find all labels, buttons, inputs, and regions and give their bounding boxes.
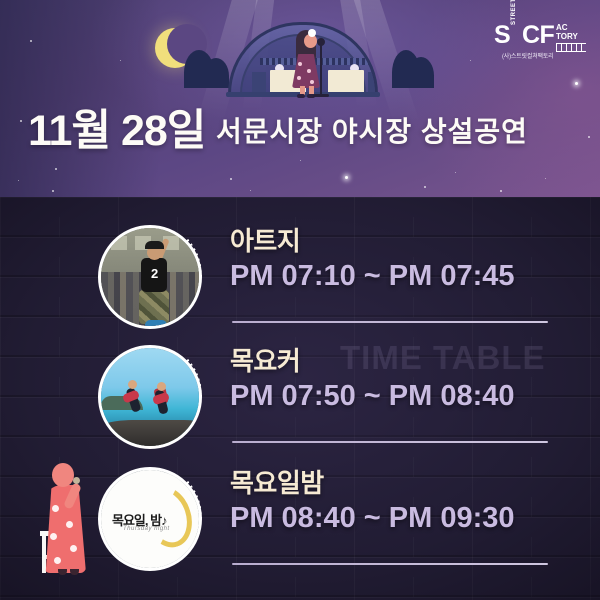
seated-singer-shoe [58,569,67,575]
dress-flower-dot [66,521,73,528]
table-row: 2 아트지 PM 07:10 ~ PM 07:45 [0,217,600,337]
singer-illustration-icon [288,28,324,96]
artist-name: 목요커 [230,347,550,376]
dress-flower-dot [297,76,301,80]
microphone-base [313,94,329,97]
seated-singer-dress [44,485,86,573]
logo-letters-cf: CF [522,22,554,48]
star-icon [30,40,32,42]
singer-hair-flower-icon [308,29,316,37]
photo-window [111,236,127,250]
stage-speaker-icon [252,72,266,94]
row-divider [232,563,548,565]
bush-icon [186,64,206,88]
dress-flower-dot [298,62,302,66]
avatar[interactable]: 2 [98,225,202,329]
performance-time: PM 07:10 ~ PM 07:45 [230,260,550,293]
bush-icon [203,58,229,88]
street-dancer-photo: 2 [101,228,199,326]
scf-logo-main: S STREET CF AC TORY [494,22,586,48]
dancer-shirt-number: 2 [151,266,158,281]
avatar-wrap: 2 [98,225,202,329]
brick-wall-body: TIME TABLE 2 [0,197,600,600]
star-icon [500,190,502,192]
table-row: 목요일, 밤♪ Thursday night 목요일밤 PM 08:40 ~ P… [0,459,600,579]
photo-rocks [101,420,202,446]
stage-speaker-icon [368,72,378,94]
logo-street-text: STREET [511,0,517,25]
star-icon [55,168,57,170]
star-icon [230,178,232,180]
star-icon [455,172,456,173]
star-icon [345,176,348,179]
seated-singer-head [52,463,74,487]
page-subtitle: 서문시장 야시장 상설공연 [216,110,528,150]
star-icon [250,190,251,191]
musician-head [128,380,137,389]
star-icon [588,136,590,138]
avatar-wrap [98,345,202,449]
dress-flower-dot [310,80,314,84]
row-divider [232,321,548,323]
dress-flower-dot [70,545,77,552]
musician-head [157,382,166,391]
artist-name: 목요일밤 [230,469,550,498]
thursday-night-logo: 목요일, 밤♪ Thursday night [101,470,199,568]
avatar-wrap: 목요일, 밤♪ Thursday night [98,467,202,571]
singer-shoe [297,94,305,98]
logo-wall-icon [556,43,586,52]
artist-name: 아트지 [230,227,550,256]
seated-singer-shoe [70,569,79,575]
avatar[interactable]: 목요일, 밤♪ Thursday night [98,467,202,571]
performance-time: PM 08:40 ~ PM 09:30 [230,502,550,535]
star-icon [545,178,546,179]
row-text-block: 목요커 PM 07:50 ~ PM 08:40 [230,347,550,413]
dancer-cap-icon [145,241,164,249]
star-icon [300,160,301,161]
row-text-block: 아트지 PM 07:10 ~ PM 07:45 [230,227,550,293]
page-title-date: 11월 28일 [28,96,205,158]
star-icon [424,186,426,188]
logo-tory-text: TORY [556,32,578,41]
poster-header: S STREET CF AC TORY (사)스트릿컬쳐팩토리 11월 28일 … [0,0,600,198]
logo-ac-text: AC [556,23,568,32]
dancer-camo-pants [139,290,169,324]
logo-org-name: (사)스트릿컬쳐팩토리 [502,51,553,60]
duo-beach-photo [101,348,199,446]
logo-letter-s: S [494,22,510,48]
avatar[interactable] [98,345,202,449]
row-text-block: 목요일밤 PM 08:40 ~ PM 09:30 [230,469,550,535]
dress-flower-dot [50,533,57,540]
star-icon [18,180,19,181]
microphone-stand-icon [320,42,322,96]
bush-icon [408,57,434,88]
performance-time: PM 07:50 ~ PM 08:40 [230,380,550,413]
microphone-icon [73,477,80,484]
scf-logo[interactable]: S STREET CF AC TORY (사)스트릿컬쳐팩토리 [494,22,586,64]
poster-root: S STREET CF AC TORY (사)스트릿컬쳐팩토리 11월 28일 … [0,0,600,600]
row-divider [232,441,548,443]
dress-flower-dot [307,69,311,73]
dress-flower-dot [54,557,61,564]
seated-singer-icon [28,453,102,579]
star-icon [20,120,22,122]
logo-english-text: Thursday night [123,526,170,532]
star-icon [52,190,54,192]
star-icon [120,60,121,61]
stage-screen-icon [328,70,364,94]
dress-flower-dot [52,505,59,512]
star-icon [470,60,471,61]
star-icon [575,82,578,85]
table-row: 목요커 PM 07:50 ~ PM 08:40 [0,337,600,457]
